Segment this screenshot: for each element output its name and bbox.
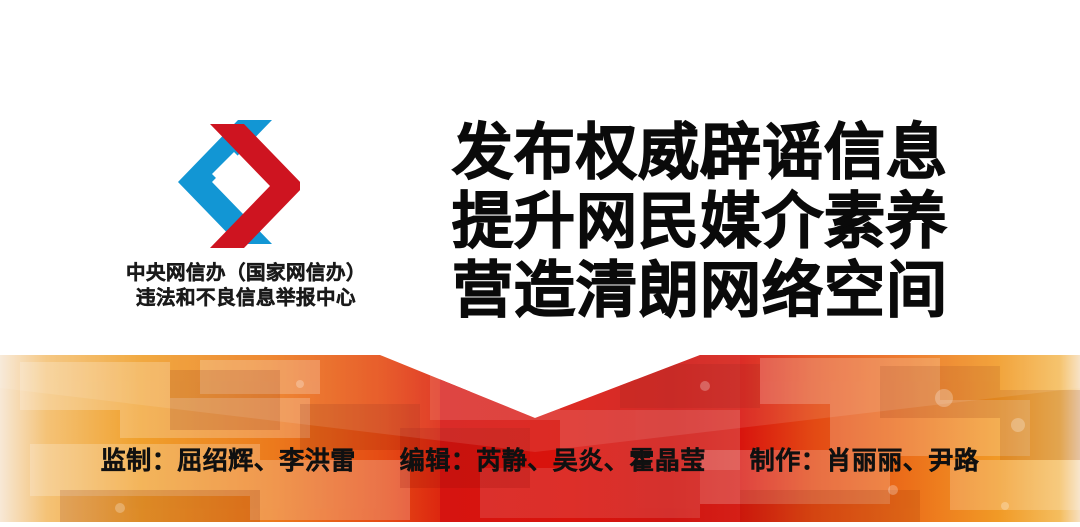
cyberspace-reporting-logo-icon bbox=[168, 118, 300, 250]
logo-caption-line-2: 违法和不良信息举报中心 bbox=[96, 285, 396, 310]
headline-block: 发布权威辟谣信息 提升网民媒介素养 营造清朗网络空间 bbox=[452, 118, 952, 325]
headline-line-2: 提升网民媒介素养 bbox=[452, 187, 952, 256]
logo-caption-line-1: 中央网信办（国家网信办） bbox=[96, 260, 396, 285]
bottom-ribbon-banner bbox=[0, 340, 1080, 527]
poster-canvas: 中央网信办（国家网信办） 违法和不良信息举报中心 发布权威辟谣信息 提升网民媒介… bbox=[0, 0, 1080, 527]
headline-line-1: 发布权威辟谣信息 bbox=[452, 118, 952, 187]
logo-block: 中央网信办（国家网信办） 违法和不良信息举报中心 bbox=[96, 118, 396, 318]
headline-line-3: 营造清朗网络空间 bbox=[452, 256, 952, 325]
logo-caption: 中央网信办（国家网信办） 违法和不良信息举报中心 bbox=[96, 260, 396, 310]
